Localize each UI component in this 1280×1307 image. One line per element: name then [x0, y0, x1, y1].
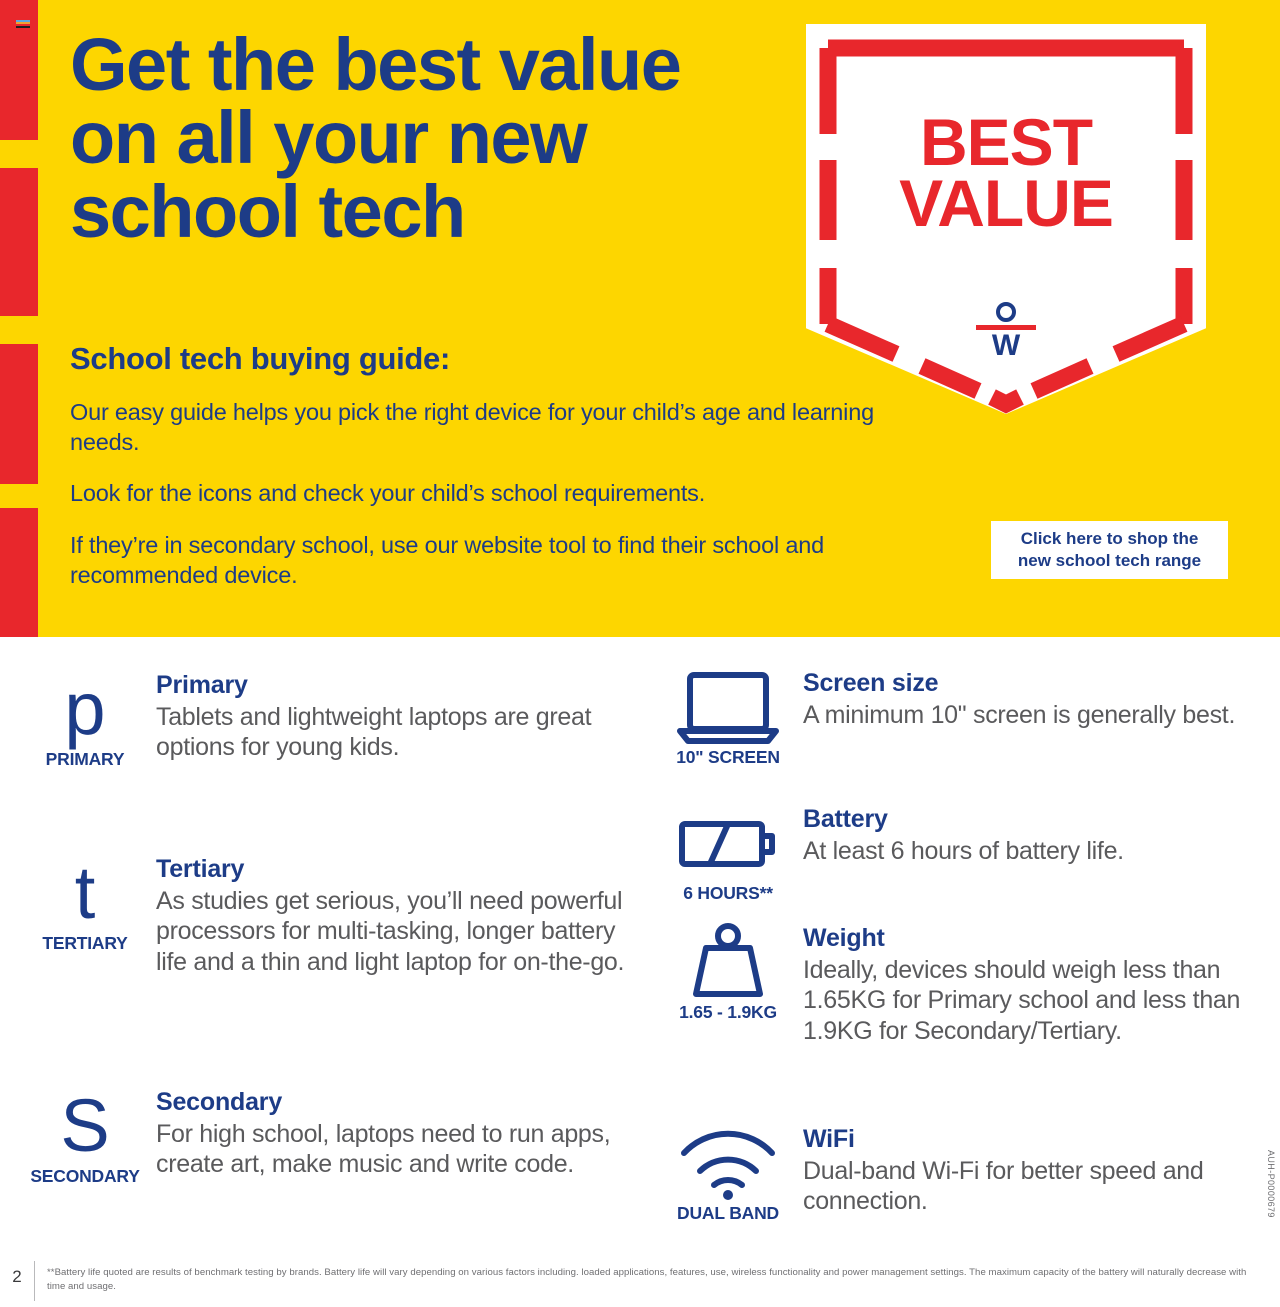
- feature-primary: p PRIMARY Primary Tablets and lightweigh…: [26, 671, 646, 770]
- primary-letter-icon: p: [64, 671, 105, 747]
- secondary-text: For high school, laptops need to run app…: [156, 1119, 646, 1180]
- screen-title: Screen size: [803, 669, 1265, 698]
- feature-battery: 6 HOURS** Battery At least 6 hours of ba…: [665, 805, 1265, 904]
- battery-caption: 6 HOURS**: [683, 883, 773, 904]
- badge-line-1: BEST: [806, 112, 1206, 173]
- primary-title: Primary: [156, 671, 646, 700]
- footnote-text: **Battery life quoted are results of ben…: [35, 1258, 1271, 1294]
- tertiary-icon-block: t TERTIARY: [26, 855, 144, 954]
- tertiary-caption: TERTIARY: [42, 933, 127, 954]
- feature-secondary: S SECONDARY Secondary For high school, l…: [26, 1088, 646, 1187]
- feature-tertiary: t TERTIARY Tertiary As studies get serio…: [26, 855, 646, 977]
- secondary-letter-icon: S: [60, 1088, 109, 1164]
- battery-icon-block: 6 HOURS**: [665, 805, 791, 904]
- weight-body: Weight Ideally, devices should weigh les…: [791, 924, 1265, 1046]
- wifi-icon: [676, 1125, 780, 1201]
- tertiary-title: Tertiary: [156, 855, 646, 884]
- ow-logo-circle: [996, 302, 1016, 322]
- weight-caption: 1.65 - 1.9KG: [679, 1002, 777, 1023]
- page-title: Get the best value on all your new schoo…: [70, 28, 770, 248]
- guide-paragraph-3: If they’re in secondary school, use our …: [70, 530, 915, 590]
- badge-line-2: VALUE: [806, 173, 1206, 234]
- side-reference-code: AUH-P0000679: [1266, 1150, 1276, 1218]
- secondary-title: Secondary: [156, 1088, 646, 1117]
- tertiary-text: As studies get serious, you’ll need powe…: [156, 886, 646, 978]
- weight-text: Ideally, devices should weigh less than …: [803, 955, 1265, 1047]
- wifi-body: WiFi Dual-band Wi-Fi for better speed an…: [791, 1125, 1265, 1217]
- tertiary-letter-icon: t: [75, 855, 96, 931]
- secondary-caption: SECONDARY: [30, 1166, 139, 1187]
- secondary-icon-block: S SECONDARY: [26, 1088, 144, 1187]
- page-footer: 2 **Battery life quoted are results of b…: [0, 1258, 1280, 1307]
- primary-caption: PRIMARY: [46, 749, 125, 770]
- page-number: 2: [0, 1258, 34, 1287]
- best-value-badge: BEST VALUE W: [806, 24, 1206, 414]
- battery-text: At least 6 hours of battery life.: [803, 836, 1265, 867]
- feature-wifi: DUAL BAND WiFi Dual-band Wi-Fi for bette…: [665, 1125, 1265, 1224]
- screen-text: A minimum 10" screen is generally best.: [803, 700, 1265, 731]
- ow-logo-icon: W: [806, 302, 1206, 361]
- cta-line-2: new school tech range: [1018, 550, 1201, 572]
- cta-line-1: Click here to shop the: [1021, 528, 1199, 550]
- badge-text: BEST VALUE: [806, 112, 1206, 233]
- page-root: Get the best value on all your new schoo…: [0, 0, 1280, 1307]
- registration-mark-icon: [16, 20, 30, 29]
- guide-heading: School tech buying guide:: [70, 341, 450, 377]
- edge-bar-3: [0, 344, 38, 484]
- wifi-caption: DUAL BAND: [677, 1203, 779, 1224]
- primary-text: Tablets and lightweight laptops are grea…: [156, 702, 646, 763]
- screen-body: Screen size A minimum 10" screen is gene…: [791, 669, 1265, 730]
- left-edge-bars: [0, 0, 38, 637]
- wifi-text: Dual-band Wi-Fi for better speed and con…: [803, 1156, 1265, 1217]
- screen-icon-block: 10" SCREEN: [665, 669, 791, 768]
- laptop-icon: [676, 669, 780, 745]
- primary-icon-block: p PRIMARY: [26, 671, 144, 770]
- feature-screen-size: 10" SCREEN Screen size A minimum 10" scr…: [665, 669, 1265, 768]
- weight-icon: [682, 924, 774, 1000]
- secondary-body: Secondary For high school, laptops need …: [144, 1088, 646, 1180]
- ow-logo-w: W: [992, 331, 1020, 361]
- guide-paragraph-2: Look for the icons and check your child’…: [70, 478, 915, 508]
- wifi-title: WiFi: [803, 1125, 1265, 1154]
- tertiary-body: Tertiary As studies get serious, you’ll …: [144, 855, 646, 977]
- hero-banner: Get the best value on all your new schoo…: [0, 0, 1280, 637]
- feature-weight: 1.65 - 1.9KG Weight Ideally, devices sho…: [665, 924, 1265, 1046]
- edge-bar-4: [0, 508, 38, 637]
- feature-grid: p PRIMARY Primary Tablets and lightweigh…: [0, 637, 1280, 1252]
- edge-bar-2: [0, 168, 38, 316]
- wifi-icon-block: DUAL BAND: [665, 1125, 791, 1224]
- guide-paragraph-1: Our easy guide helps you pick the right …: [70, 397, 915, 457]
- weight-icon-block: 1.65 - 1.9KG: [665, 924, 791, 1023]
- screen-caption: 10" SCREEN: [676, 747, 780, 768]
- primary-body: Primary Tablets and lightweight laptops …: [144, 671, 646, 763]
- battery-icon: [676, 805, 780, 881]
- shop-range-button[interactable]: Click here to shop the new school tech r…: [991, 521, 1228, 579]
- weight-title: Weight: [803, 924, 1265, 953]
- battery-body: Battery At least 6 hours of battery life…: [791, 805, 1265, 866]
- battery-title: Battery: [803, 805, 1265, 834]
